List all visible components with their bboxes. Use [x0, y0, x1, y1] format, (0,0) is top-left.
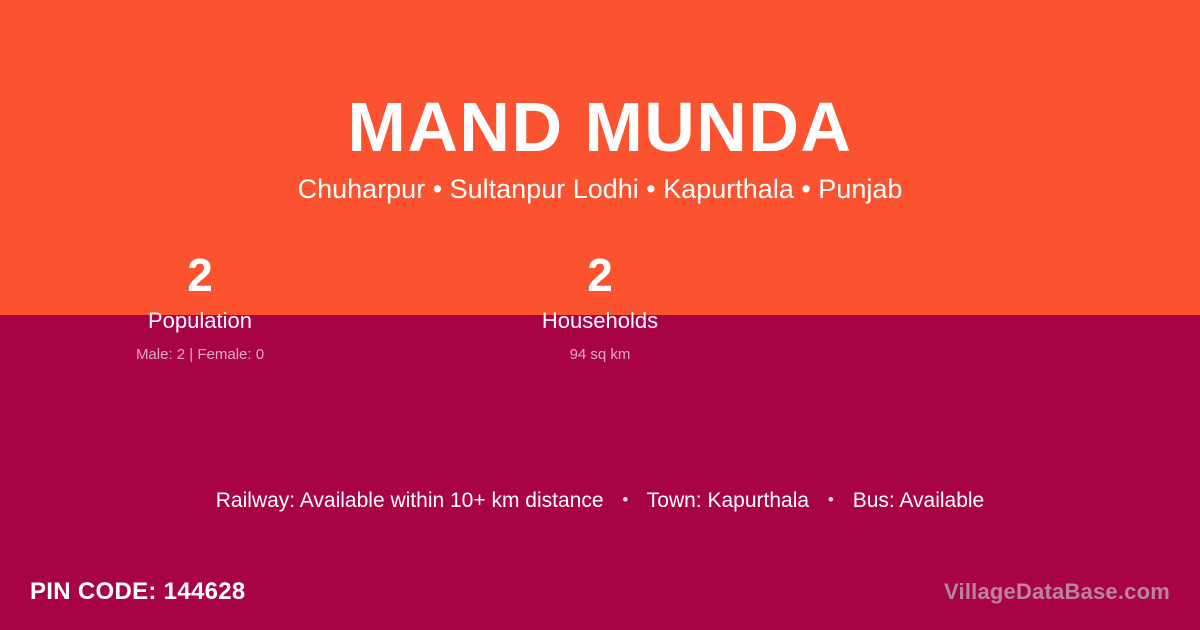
- stat-value-households: 2: [400, 247, 800, 303]
- stat-population: 2 Population Male: 2 | Female: 0: [0, 247, 400, 366]
- stat-label-population: Population: [0, 307, 400, 335]
- pin-code-label: PIN CODE: 144628: [30, 577, 246, 607]
- infra-town: Town: Kapurthala: [647, 489, 809, 512]
- stat-sub-population: Male: 2 | Female: 0: [0, 344, 400, 366]
- stat-placeholder-empty: [800, 247, 1200, 366]
- bullet-separator-icon: •: [609, 486, 641, 514]
- infra-bus: Bus: Available: [853, 489, 985, 512]
- site-brand-logo: VillageDataBase.com: [944, 578, 1170, 606]
- stat-label-households: Households: [400, 307, 800, 335]
- stat-sub-households: 94 sq km: [400, 344, 800, 366]
- infrastructure-summary: Railway: Available within 10+ km distanc…: [0, 486, 1200, 515]
- infra-railway: Railway: Available within 10+ km distanc…: [216, 489, 604, 512]
- bullet-separator-icon: •: [815, 486, 847, 514]
- village-info-card: MAND MUNDA Chuharpur • Sultanpur Lodhi •…: [0, 0, 1200, 630]
- stats-grid: 2 Population Male: 2 | Female: 0 2 House…: [0, 247, 1200, 366]
- stat-value-population: 2: [0, 247, 400, 303]
- page-title: MAND MUNDA: [0, 88, 1200, 166]
- card-footer: PIN CODE: 144628 VillageDataBase.com: [0, 554, 1200, 630]
- breadcrumb: Chuharpur • Sultanpur Lodhi • Kapurthala…: [0, 172, 1200, 206]
- stat-households: 2 Households 94 sq km: [400, 247, 800, 366]
- card-header: MAND MUNDA Chuharpur • Sultanpur Lodhi •…: [0, 0, 1200, 206]
